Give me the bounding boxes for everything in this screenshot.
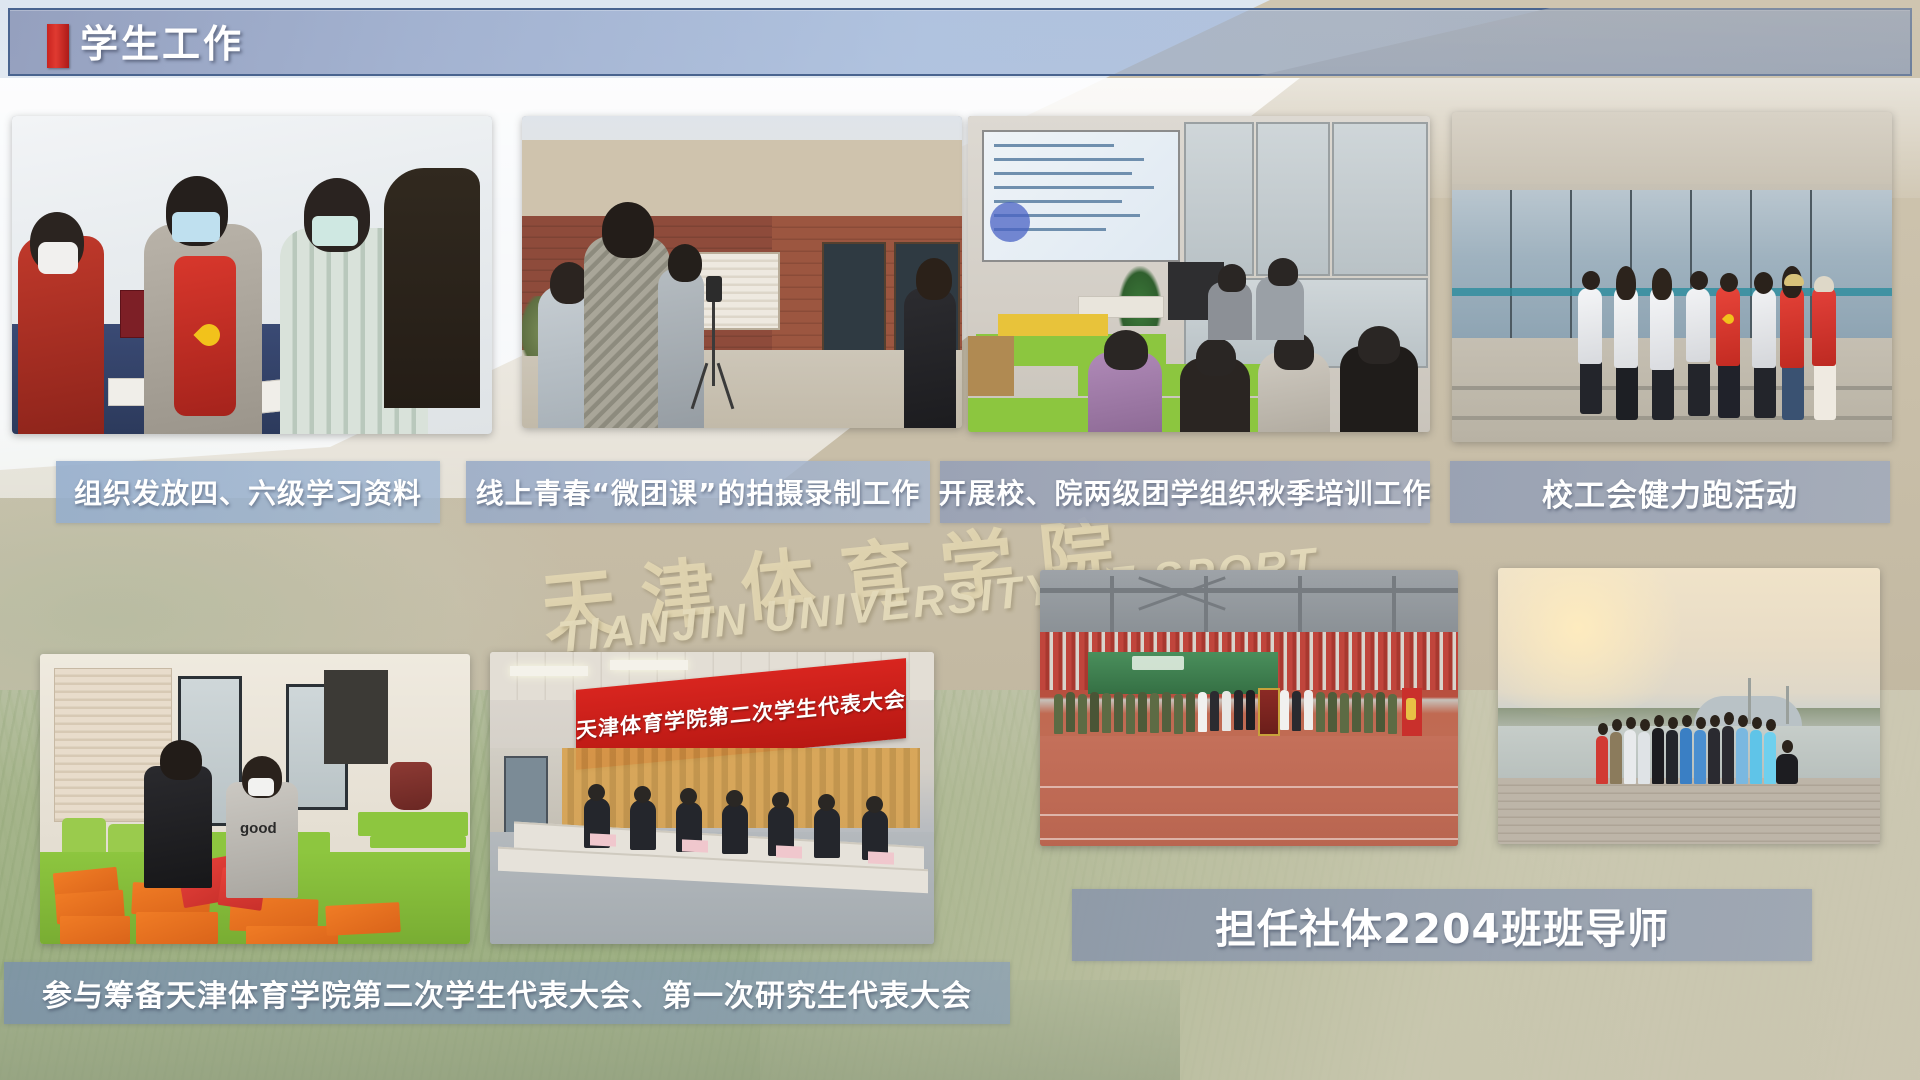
- caption-class-mentor: 担任社体2204班班导师: [1072, 889, 1812, 961]
- caption-distributing-materials: 组织发放四、六级学习资料: [56, 461, 440, 523]
- header-red-accent-bar: [47, 24, 69, 68]
- photo-student-congress-hall: 天津体育学院第二次学生代表大会: [490, 652, 934, 944]
- photo-preparing-congress-bags: good: [40, 654, 470, 944]
- photo-distributing-materials: [12, 116, 492, 434]
- caption-staff-union-run: 校工会健力跑活动: [1450, 461, 1890, 523]
- page-title: 学生工作: [80, 18, 244, 70]
- photo-filming-micro-class: [522, 116, 962, 428]
- photo-staff-union-run-group: [1452, 112, 1892, 442]
- caption-student-congress: 参与筹备天津体育学院第二次学生代表大会、第一次研究生代表大会: [4, 962, 1010, 1024]
- caption-autumn-training: 开展校、院两级团学组织秋季培训工作: [940, 461, 1430, 523]
- caption-micro-class-filming: 线上青春“微团课”的拍摄录制工作: [466, 461, 930, 523]
- slide-header-band: [8, 8, 1912, 76]
- photo-lakeside-class-group: [1498, 568, 1880, 844]
- photo-autumn-training-classroom: [968, 116, 1430, 432]
- photo-military-training-ceremony: [1040, 570, 1458, 846]
- presentation-slide: 天津体育学院 TIANJIN UNIVERSITY OF SPORT 学生工作: [0, 0, 1920, 1080]
